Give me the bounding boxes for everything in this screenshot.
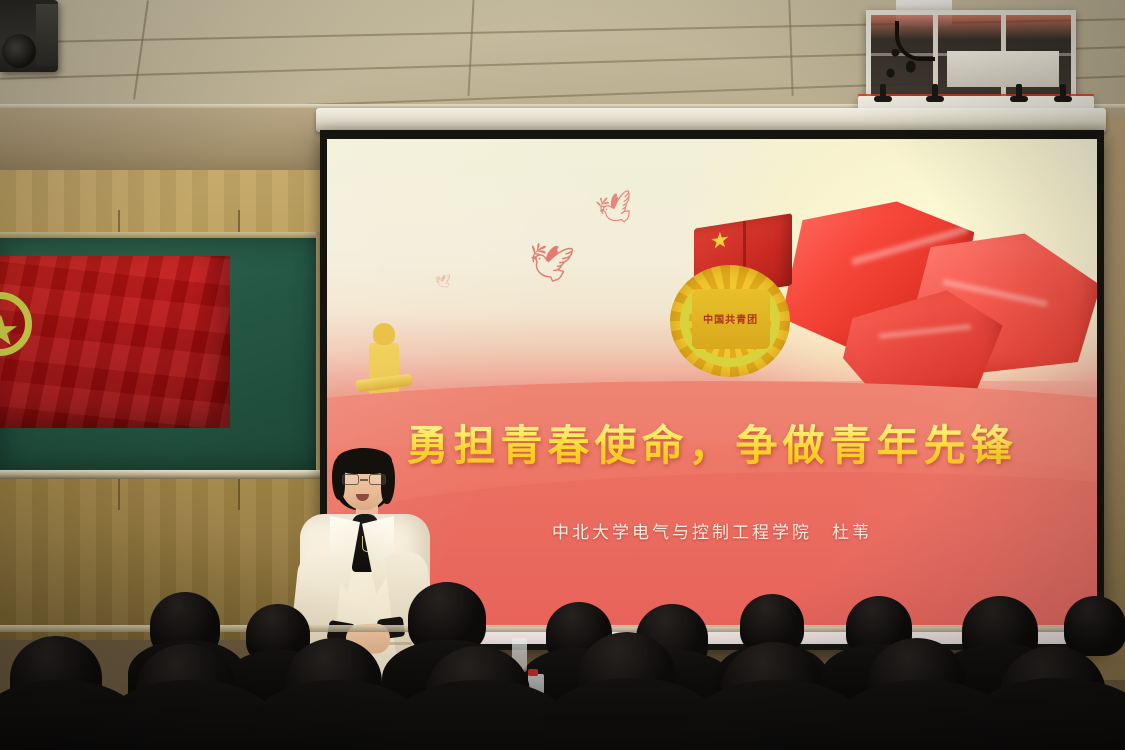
ceiling-seam xyxy=(788,0,793,96)
youth-league-emblem: ★ 中国共青团 xyxy=(670,225,818,377)
projection-screen-roller xyxy=(316,108,1106,132)
dove-icon: 🕊 xyxy=(593,190,637,228)
projector-foot xyxy=(932,84,938,98)
wall-speaker-icon xyxy=(0,0,58,72)
lens-bridge xyxy=(360,479,368,481)
lens xyxy=(342,474,359,485)
projector-inner-unit xyxy=(947,51,1059,87)
emblem-star-icon: ★ xyxy=(710,228,730,253)
dove-icon: 🕊 xyxy=(434,275,452,290)
audience xyxy=(0,565,1125,750)
bottle-cap xyxy=(528,669,538,676)
speaker-bracket xyxy=(36,4,58,66)
audience-head xyxy=(1064,596,1125,656)
ceiling-seam xyxy=(467,0,474,96)
glasses-icon xyxy=(342,474,386,485)
projector-foot xyxy=(1060,84,1066,98)
lecture-hall-photo: ▲ MITSUBISHI ★ 🕊 🕊 🕊 xyxy=(0,0,1125,750)
projector-foot xyxy=(1016,84,1022,98)
projector-foot xyxy=(880,84,886,98)
chalk-tray xyxy=(0,470,330,479)
projector-security-cage xyxy=(866,10,1076,102)
lens xyxy=(369,474,386,485)
emblem-text: 中国共青团 xyxy=(692,289,770,349)
ceiling-seam xyxy=(133,0,149,99)
youth-league-flag: ★ xyxy=(0,256,230,428)
dove-icon: 🕊 xyxy=(524,241,575,284)
speaker-cone xyxy=(2,34,36,68)
